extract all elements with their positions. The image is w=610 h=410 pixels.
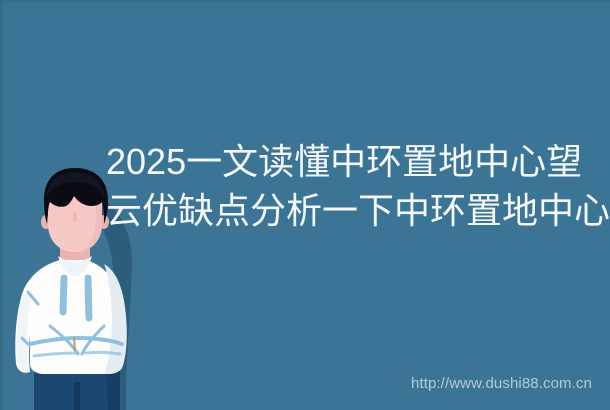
- headline-line-2: 云优缺点分析一下中环置地中心望: [106, 186, 598, 235]
- watermark-url: http://www.dushi88.com.cn: [411, 375, 592, 393]
- hoodie: [15, 256, 127, 374]
- image-canvas: 2025一文读懂中环置地中心望 云优缺点分析一下中环置地中心望 http://w…: [0, 0, 610, 410]
- headline: 2025一文读懂中环置地中心望 云优缺点分析一下中环置地中心望: [106, 137, 598, 235]
- headline-line-1: 2025一文读懂中环置地中心望: [106, 137, 598, 186]
- drawstring-tips: [74, 338, 75, 350]
